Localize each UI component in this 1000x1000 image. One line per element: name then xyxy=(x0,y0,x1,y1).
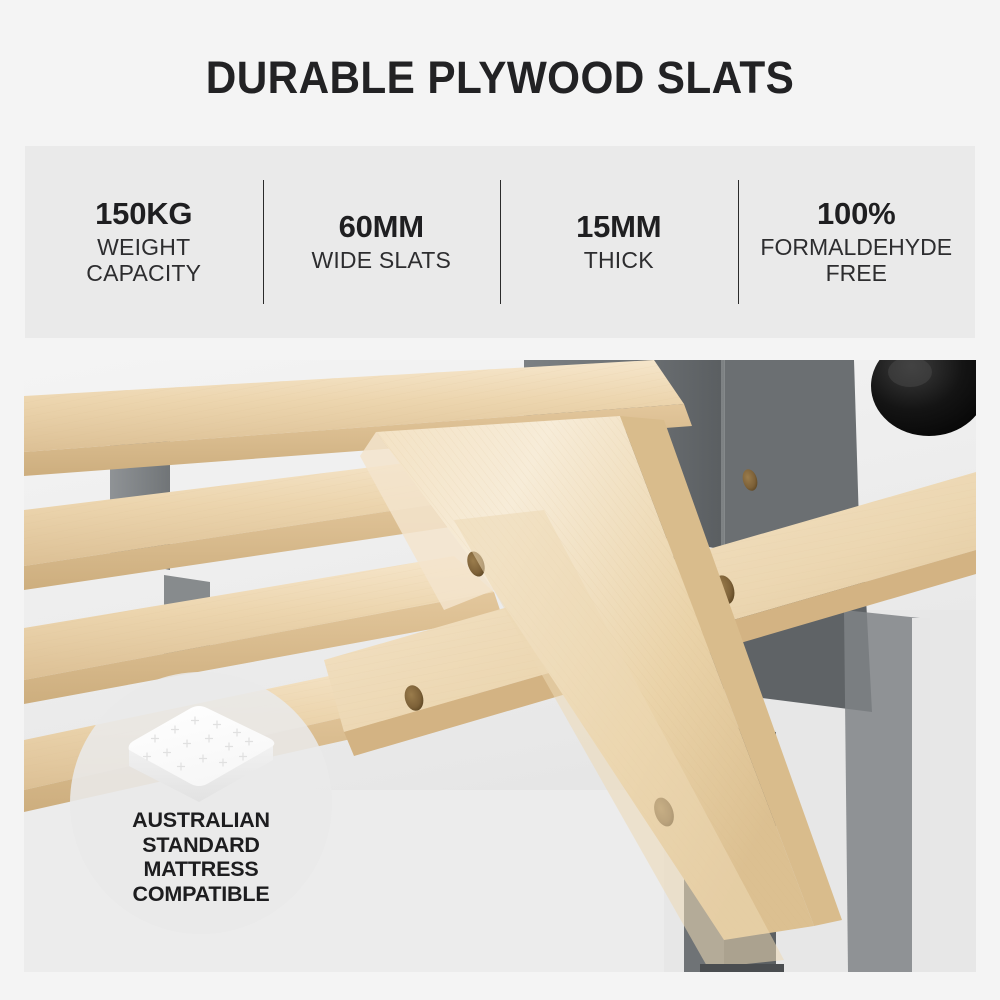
page-title: DURABLE PLYWOOD SLATS xyxy=(30,52,970,104)
spec-label: FORMALDEHYDE FREE xyxy=(744,234,970,287)
spec-value: 150KG xyxy=(31,197,257,232)
spec-item-wide-slats: 60MM WIDE SLATS xyxy=(263,210,501,273)
spec-label: THICK xyxy=(506,247,732,274)
spec-item-weight-capacity: 150KG WEIGHT CAPACITY xyxy=(25,197,263,287)
mattress-compatible-badge: AUSTRALIAN STANDARD MATTRESS COMPATIBLE xyxy=(70,672,332,934)
specs-panel: 150KG WEIGHT CAPACITY 60MM WIDE SLATS 15… xyxy=(25,146,975,338)
spec-label: WIDE SLATS xyxy=(269,247,495,274)
spec-item-thickness: 15MM THICK xyxy=(500,210,738,273)
spec-label: WEIGHT CAPACITY xyxy=(31,234,257,287)
mattress-icon xyxy=(117,698,285,802)
spec-value: 15MM xyxy=(506,210,732,245)
spec-value: 60MM xyxy=(269,210,495,245)
spec-item-formaldehyde-free: 100% FORMALDEHYDE FREE xyxy=(738,197,976,287)
badge-label: AUSTRALIAN STANDARD MATTRESS COMPATIBLE xyxy=(132,808,270,906)
spec-value: 100% xyxy=(744,197,970,232)
